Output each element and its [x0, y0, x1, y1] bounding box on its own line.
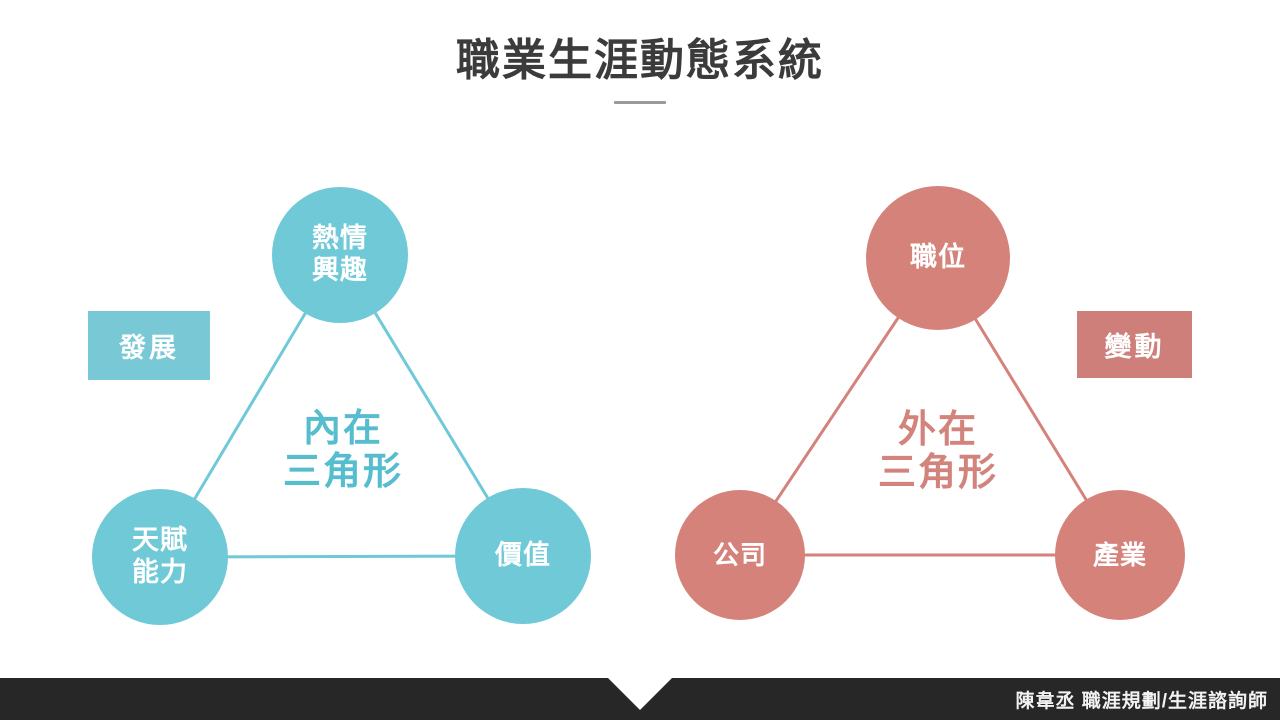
node-company[interactable]: 公司: [675, 490, 805, 620]
badge-change[interactable]: 變動: [1077, 311, 1192, 378]
node-value[interactable]: 價值: [455, 488, 591, 624]
node-industry-line-1: 產業: [1093, 540, 1147, 571]
page-title: 職業生涯動態系統: [0, 36, 1280, 87]
node-job-position[interactable]: 職位: [866, 186, 1010, 330]
badge-development[interactable]: 發展: [88, 311, 210, 380]
footer-notch-icon: [608, 678, 672, 710]
badge-change-label: 變動: [1105, 325, 1165, 364]
node-talent-line-2: 能力: [132, 557, 188, 589]
title-divider: [614, 101, 666, 104]
caption-outer-triangle: 外在 三角形: [818, 409, 1058, 494]
node-passion-line-2: 興趣: [312, 255, 368, 287]
node-company-line-1: 公司: [713, 540, 767, 571]
slide-canvas: 職業生涯動態系統 發展 熱情 興趣 天賦 能力 價值 內在 三角形: [0, 0, 1280, 720]
node-talent-line-1: 天賦: [132, 525, 188, 557]
caption-inner-triangle: 內在 三角形: [223, 408, 463, 493]
node-talent-ability[interactable]: 天賦 能力: [92, 489, 228, 625]
caption-inner-line-2: 三角形: [223, 451, 463, 494]
caption-outer-line-1: 外在: [818, 409, 1058, 452]
node-passion-interest[interactable]: 熱情 興趣: [272, 187, 408, 323]
footer-credit: 陳韋丞 職涯規劃/生涯諮詢師: [1015, 678, 1268, 720]
caption-inner-line-1: 內在: [223, 408, 463, 451]
node-position-line-1: 職位: [910, 242, 966, 274]
node-passion-line-1: 熱情: [312, 223, 368, 255]
badge-development-label: 發展: [119, 326, 179, 365]
caption-outer-line-2: 三角形: [818, 452, 1058, 495]
node-value-line-1: 價值: [495, 540, 551, 572]
node-industry[interactable]: 產業: [1055, 490, 1185, 620]
title-block: 職業生涯動態系統: [0, 36, 1280, 104]
